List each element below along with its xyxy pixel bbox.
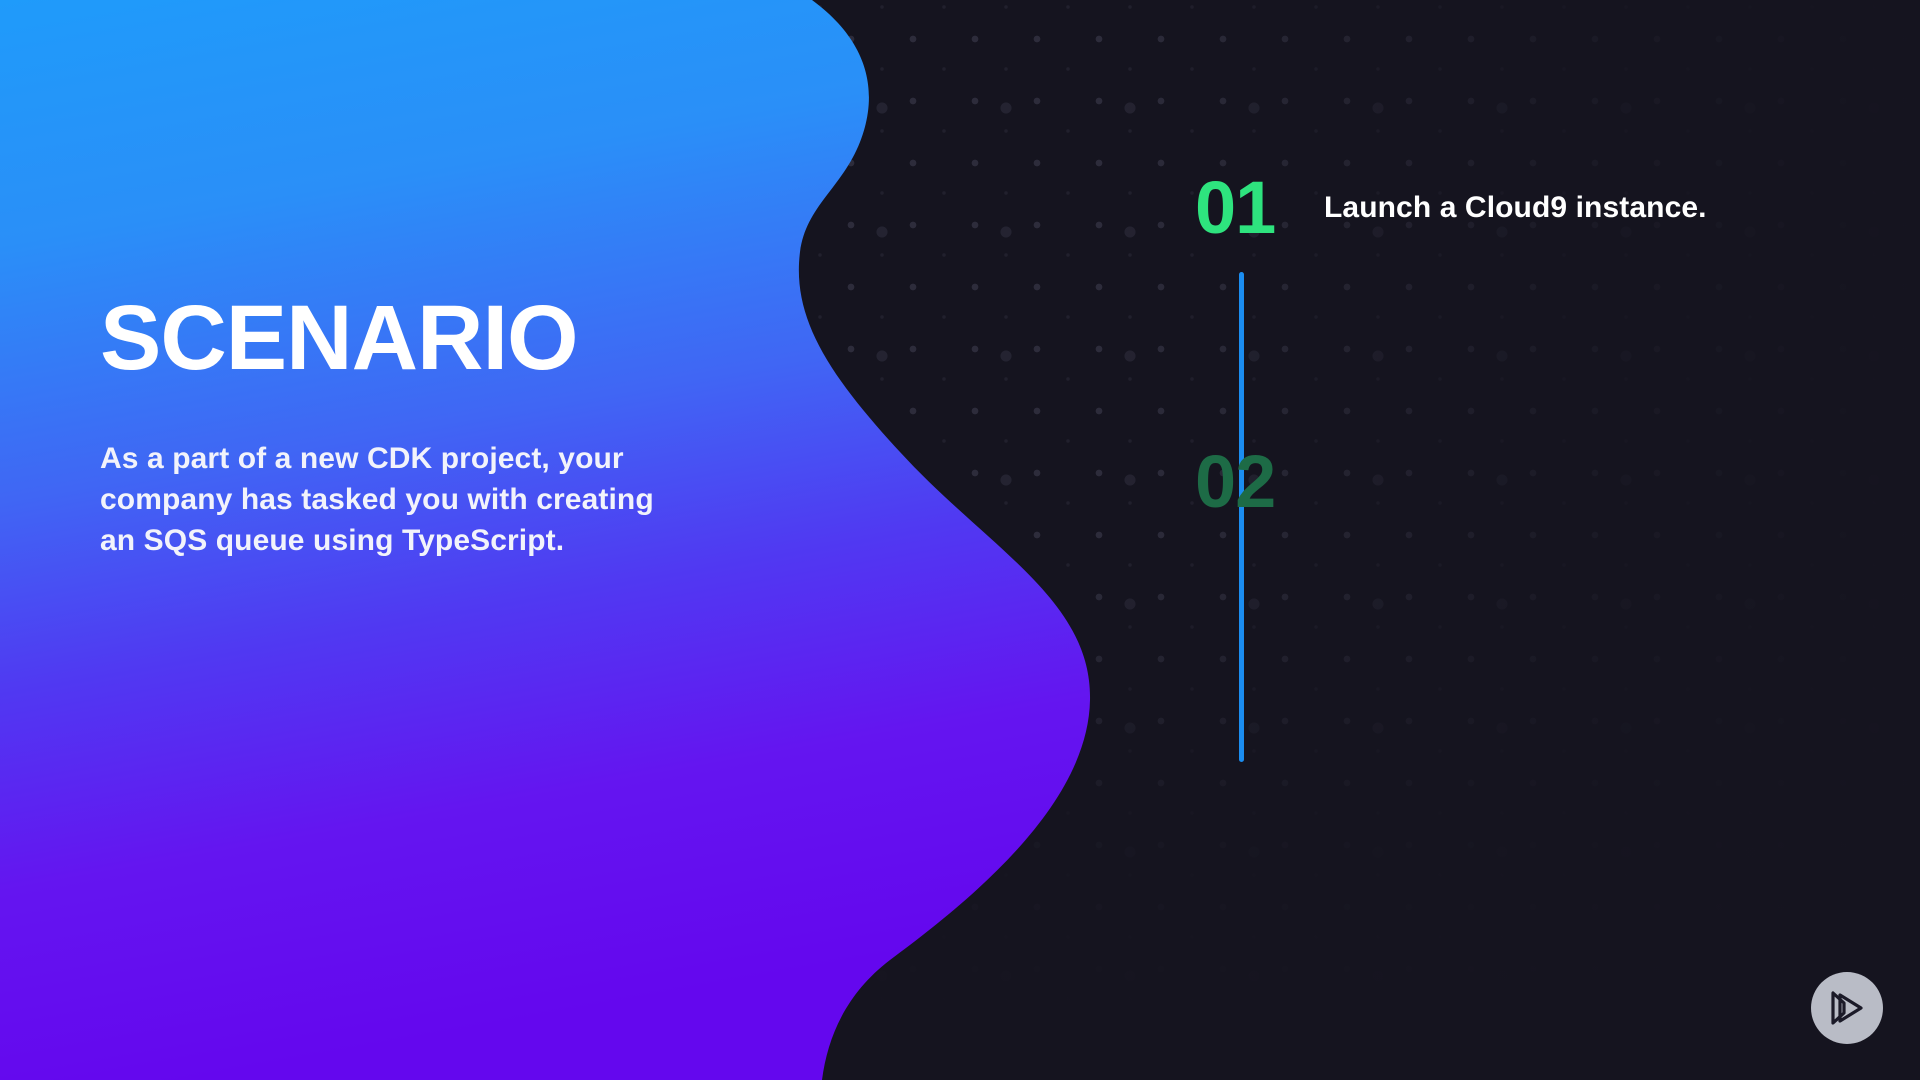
presentation-slide: SCENARIO As a part of a new CDK project,…: [0, 0, 1920, 1080]
play-button[interactable]: [1811, 972, 1883, 1044]
step-item-02[interactable]: 02: [1195, 434, 1707, 530]
step-item-01[interactable]: 01 Launch a Cloud9 instance.: [1195, 160, 1707, 256]
page-title: SCENARIO: [100, 292, 700, 384]
step-spacer: [1195, 256, 1707, 434]
steps-list: 01 Launch a Cloud9 instance. 02: [1195, 160, 1707, 530]
step-number-01: 01: [1195, 171, 1315, 245]
step-label-01: Launch a Cloud9 instance.: [1324, 191, 1707, 225]
scenario-panel: SCENARIO As a part of a new CDK project,…: [100, 292, 700, 561]
step-number-02: 02: [1195, 445, 1315, 519]
play-icon: [1827, 989, 1867, 1027]
scenario-description: As a part of a new CDK project, your com…: [100, 438, 685, 561]
